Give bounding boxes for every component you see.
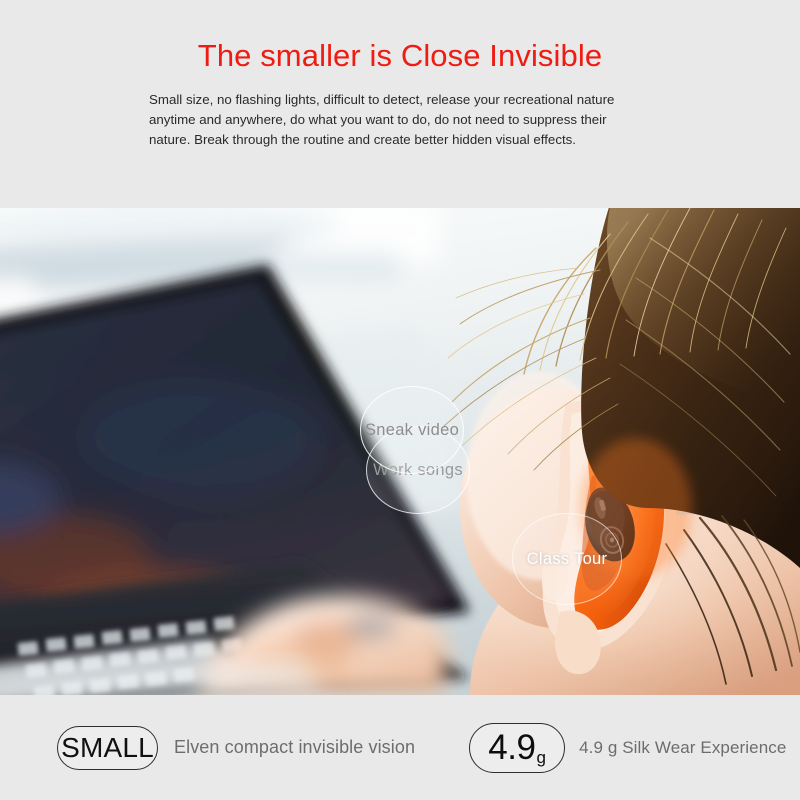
weight-badge: 4.9 g (469, 723, 565, 773)
feature-weight: 4.9 g 4.9 g Silk Wear Experience (469, 723, 786, 773)
feature-weight-caption: 4.9 g Silk Wear Experience (579, 738, 786, 758)
footer-section: SMALL Elven compact invisible vision 4.9… (0, 695, 800, 800)
callout-sneak-video-label: Sneak video (365, 421, 459, 440)
small-badge-label: SMALL (61, 734, 154, 762)
weight-badge-number: 4.9 (488, 730, 535, 765)
callout-class-tour[interactable]: Class Tour (512, 513, 622, 605)
header-section: The smaller is Close Invisible Small siz… (0, 0, 800, 208)
hero-photo: Work songs Sneak video Class Tour (0, 208, 800, 695)
product-banner: The smaller is Close Invisible Small siz… (0, 0, 800, 800)
weight-badge-unit: g (536, 749, 545, 771)
feature-small-caption: Elven compact invisible vision (174, 737, 415, 758)
small-badge: SMALL (57, 726, 158, 770)
callout-sneak-video[interactable]: Sneak video (360, 386, 464, 474)
description-paragraph: Small size, no flashing lights, difficul… (149, 90, 647, 151)
feature-small: SMALL Elven compact invisible vision (57, 726, 415, 770)
callout-class-tour-label: Class Tour (527, 550, 608, 569)
page-title: The smaller is Close Invisible (0, 0, 800, 74)
